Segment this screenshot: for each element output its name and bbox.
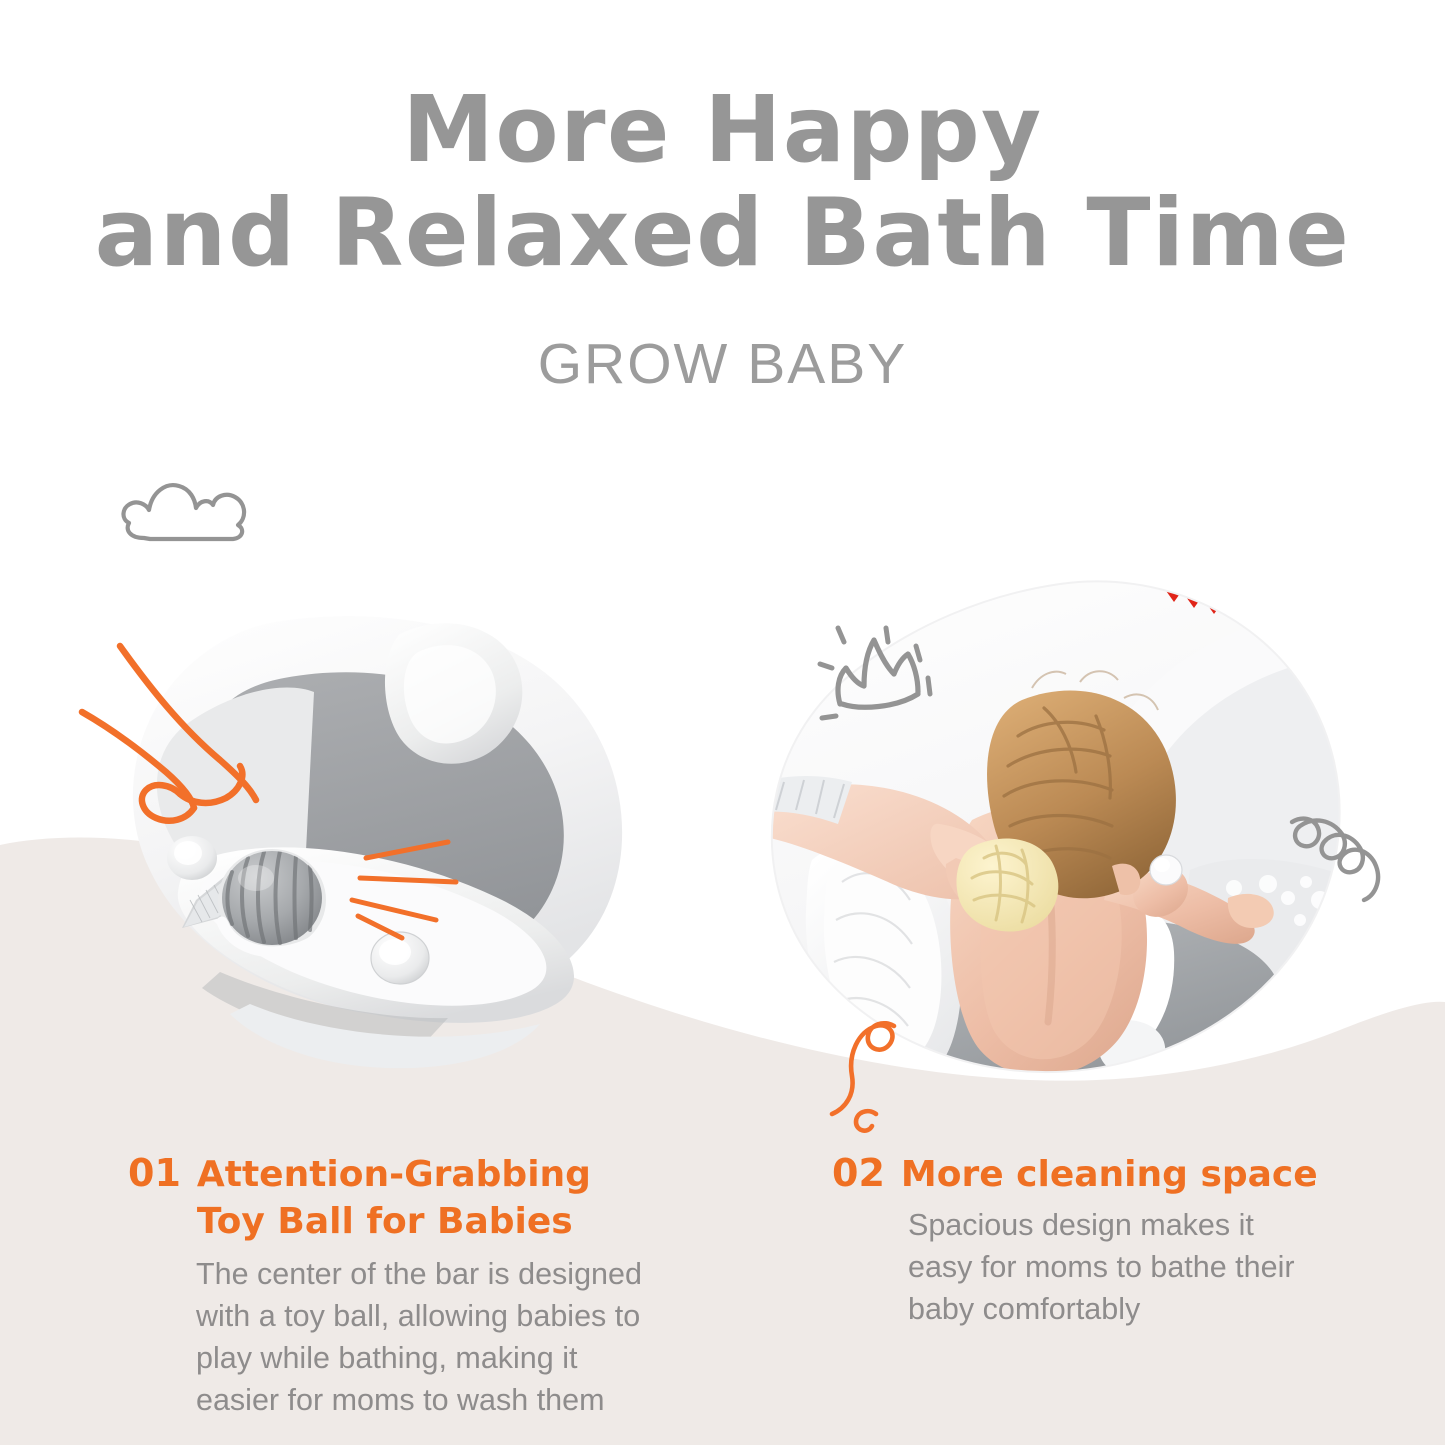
feature-title: More cleaning space — [901, 1151, 1318, 1198]
feature-number: 02 — [832, 1150, 885, 1196]
feature-number: 01 — [128, 1150, 181, 1196]
feature-description: Spacious design makes it easy for moms t… — [908, 1204, 1308, 1330]
feature-item-02: 02 More cleaning space Spacious design m… — [832, 1150, 1332, 1330]
title-line-1: More Happy — [0, 78, 1445, 182]
feature-description: The center of the bar is designed with a… — [196, 1253, 651, 1421]
page-subtitle: GROW BABY — [0, 331, 1445, 397]
crown-icon — [812, 618, 952, 733]
spiral-icon — [1288, 808, 1408, 903]
cloud-icon — [116, 466, 266, 551]
feature-heading: 01 Attention-Grabbing Toy Ball for Babie… — [128, 1150, 668, 1245]
marketing-banner: More Happy and Relaxed Bath Time GROW BA… — [0, 0, 1445, 1445]
feature-item-01: 01 Attention-Grabbing Toy Ball for Babie… — [128, 1150, 668, 1421]
page-title: More Happy and Relaxed Bath Time — [0, 78, 1445, 286]
squiggle-icon — [822, 1018, 942, 1133]
title-line-2: and Relaxed Bath Time — [0, 182, 1445, 286]
feature-title: Attention-Grabbing Toy Ball for Babies — [197, 1151, 607, 1245]
feature-heading: 02 More cleaning space — [832, 1150, 1332, 1198]
product-image-toy-ball — [70, 600, 660, 1070]
feature-list: 01 Attention-Grabbing Toy Ball for Babie… — [0, 1150, 1445, 1445]
